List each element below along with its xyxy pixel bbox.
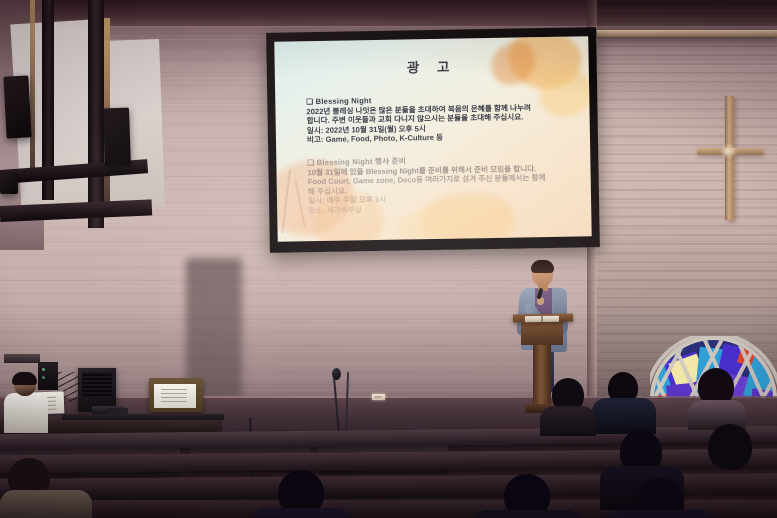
- hanging-speaker-1: [3, 75, 31, 138]
- sheet-music: [154, 384, 196, 408]
- sanctuary-photo: 광 고 ❏ Blessing Night 2022년 블레싱 나잇은 많은 분들…: [0, 0, 777, 518]
- projection-screen: 광 고 ❏ Blessing Night 2022년 블레싱 나잇은 많은 분들…: [266, 27, 600, 253]
- pulpit-front-panel: [521, 321, 563, 345]
- exit-sign: EXIT: [372, 394, 385, 400]
- exit-sign-label: EXIT: [372, 394, 385, 400]
- keyboardist-torso: [4, 393, 48, 433]
- stage-left-doorway-shadow: [186, 258, 242, 398]
- music-stand-right: [149, 378, 203, 412]
- rack-power-led-icon: [42, 368, 45, 371]
- congregant-silhouette: [540, 378, 594, 434]
- beam-highlight-left: [30, 0, 35, 176]
- keyboard-control-panel: [106, 408, 128, 414]
- slide-block-2: ❏ Blessing Night 행사 준비 10월 31일에 있을 Bless…: [307, 153, 581, 215]
- equipment-cabinet-top: [4, 354, 40, 363]
- congregant-silhouette: [688, 368, 744, 428]
- pastor-hair: [531, 260, 554, 273]
- hanging-speaker-2: [103, 108, 131, 167]
- congregant-silhouette: [474, 474, 578, 518]
- slide-block-1: ❏ Blessing Night 2022년 블레싱 나잇은 많은 분들을 초대…: [306, 92, 580, 145]
- bible-spine: [541, 316, 543, 322]
- pa-speaker-grille: [82, 372, 112, 398]
- keyboardist-figure: [4, 374, 50, 430]
- hanging-speaker-3: [0, 172, 18, 194]
- congregant-silhouette: [592, 372, 654, 432]
- slide-body: ❏ Blessing Night 2022년 블레싱 나잇은 많은 분들을 초대…: [306, 92, 581, 215]
- congregant-silhouette: [604, 478, 714, 518]
- congregant-silhouette: [0, 458, 88, 518]
- cross-highlight: [720, 143, 737, 160]
- keyboard-keys: [62, 414, 224, 420]
- screen-projection-surface: 광 고 ❏ Blessing Night 2022년 블레싱 나잇은 많은 분들…: [274, 36, 591, 241]
- keyboardist-hair: [12, 372, 37, 385]
- congregant-silhouette: [252, 470, 348, 518]
- microphone-capsule-icon: [332, 368, 341, 380]
- wood-wall-ledge: [597, 30, 777, 37]
- ceiling-beam-vertical-2: [88, 0, 104, 228]
